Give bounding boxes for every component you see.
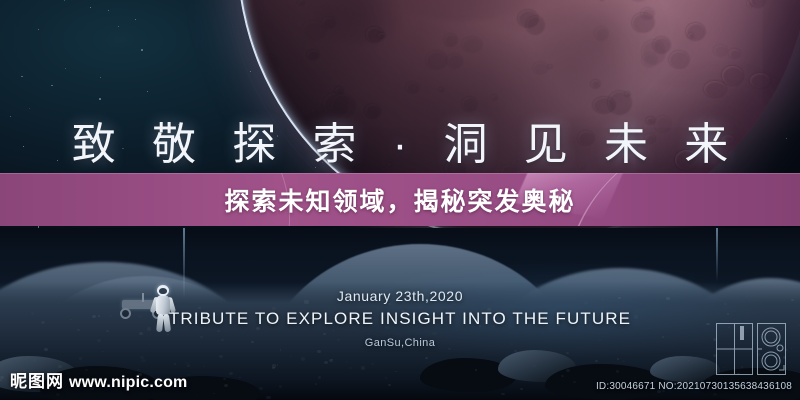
watermark-logo-text: 昵图网 [10, 367, 64, 392]
image-id-label: ID:30046671 NO:20210730135638436108 [596, 381, 792, 392]
page-title: 致 敬 探 索 · 洞 见 未 来 [0, 108, 800, 172]
banner-headline: 探索未知领域，揭秘突发奥秘 [0, 173, 800, 226]
banner-strip: 探索未知领域，揭秘突发奥秘 [0, 173, 800, 226]
watermark: 昵图网 www.nipic.com [10, 367, 187, 392]
caption-place: GanSu,China [0, 337, 800, 349]
caption-block: January 23th,2020 TRIBUTE TO EXPLORE INS… [0, 288, 800, 349]
hud-decoration [716, 323, 786, 375]
light-beam-right [716, 228, 718, 282]
caption-date: January 23th,2020 [0, 288, 800, 304]
hud-graphic-icon [716, 323, 786, 375]
watermark-url: www.nipic.com [69, 374, 187, 392]
caption-title: TRIBUTE TO EXPLORE INSIGHT INTO THE FUTU… [0, 309, 800, 329]
poster-canvas: 致 敬 探 索 · 洞 见 未 来 探索未知领域，揭秘突发奥秘 January … [0, 0, 800, 400]
